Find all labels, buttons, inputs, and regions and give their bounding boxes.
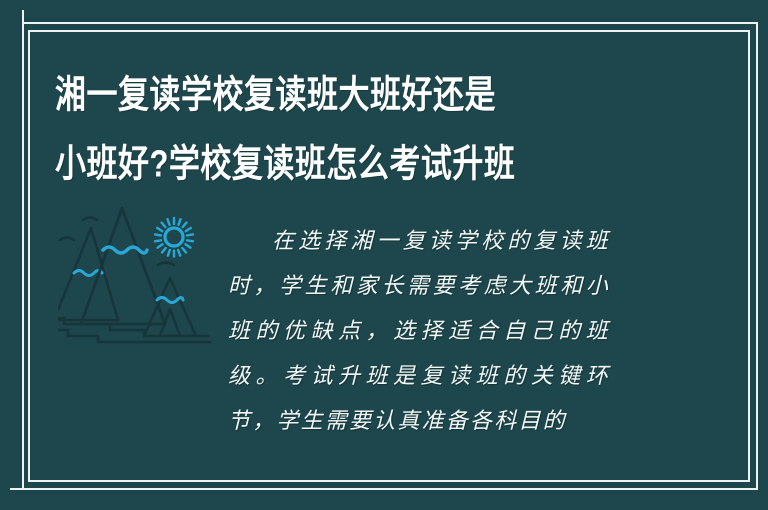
center-peak-snow-wave xyxy=(103,247,147,253)
large-center-peak xyxy=(81,208,165,324)
mountain-illustration xyxy=(58,196,218,356)
title-line-1: 湘一复读学校复读班大班好还是 xyxy=(55,66,695,123)
page-title: 湘一复读学校复读班大班好还是 小班好?学校复读班怎么考试升班 xyxy=(55,66,695,182)
sun-burst-icon xyxy=(155,218,193,257)
poster-card: 湘一复读学校复读班大班好还是 小班好?学校复读班怎么考试升班 xyxy=(0,0,768,510)
title-line-2: 小班好?学校复读班怎么考试升班 xyxy=(55,135,695,192)
frame-corner-mask-top xyxy=(0,0,22,26)
body-paragraph: 在选择湘一复读学校的复读班时，学生和家长需要考虑大班和小班的优缺点，选择适合自己… xyxy=(228,218,610,443)
frame-corner-mask-bottom xyxy=(0,492,30,510)
body-copy: 在选择湘一复读学校的复读班时，学生和家长需要考虑大班和小班的优缺点，选择适合自己… xyxy=(228,196,610,465)
